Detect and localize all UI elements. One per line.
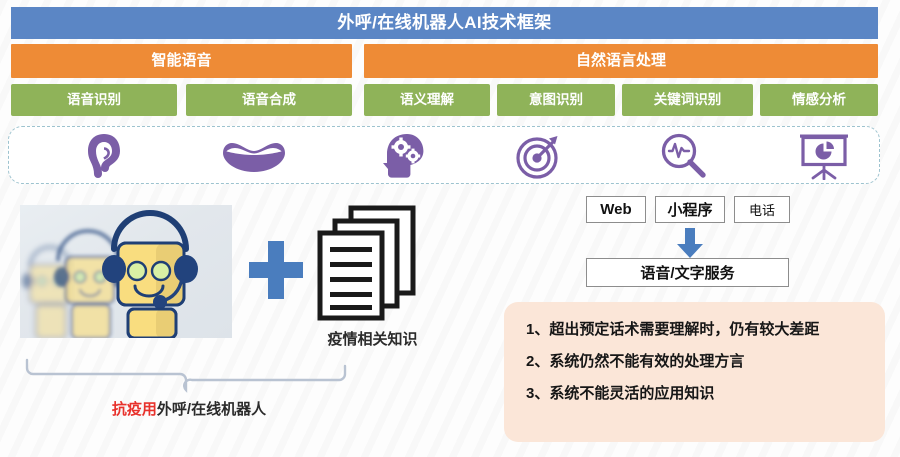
channel-web[interactable]: Web [586, 196, 646, 223]
issue-item-1: 1、超出预定话术需要理解时，仍有较大差距 [526, 322, 869, 337]
framework-leaf-intent: 意图识别 [497, 84, 615, 116]
head-gears-icon [354, 131, 454, 181]
issue-item-2: 2、系统仍然不能有效的处理方言 [526, 354, 869, 369]
framework-leaf-emotion: 情感分析 [760, 84, 878, 116]
framework-group-speech: 智能语音 [11, 44, 352, 78]
lips-icon [199, 131, 309, 181]
robot-caption: 抗疫用外呼/在线机器人 [24, 398, 354, 419]
issue-item-3: 3、系统不能灵活的应用知识 [526, 386, 869, 401]
framework-leaf-keyword: 关键词识别 [622, 84, 753, 116]
presentation-chart-icon [769, 131, 879, 181]
robot-caption-rest: 外呼/在线机器人 [157, 401, 266, 418]
plus-icon [247, 239, 305, 301]
framework-leaf-tts: 语音合成 [186, 84, 352, 116]
grouping-brace [24, 358, 354, 394]
framework-leaf-semantic: 语义理解 [364, 84, 490, 116]
issues-panel: 1、超出预定话术需要理解时，仍有较大差距 2、系统仍然不能有效的处理方言 3、系… [504, 302, 885, 442]
channel-telephone[interactable]: 电话 [734, 196, 790, 223]
service-box: 语音/文字服务 [586, 258, 789, 287]
slide-root: 外呼/在线机器人AI技术框架 智能语音 自然语言处理 语音识别 语音合成 语义理… [0, 0, 900, 457]
framework-title: 外呼/在线机器人AI技术框架 [11, 7, 878, 39]
icon-strip [8, 126, 880, 184]
documents-icon [315, 203, 430, 323]
framework-group-nlp: 自然语言处理 [364, 44, 878, 78]
framework-leaf-asr: 语音识别 [11, 84, 177, 116]
robot-caption-highlight: 抗疫用 [112, 401, 157, 418]
ear-icon [59, 131, 149, 181]
magnifier-waveform-icon [629, 131, 739, 181]
robot-illustration [20, 205, 232, 338]
documents-caption: 疫情相关知识 [300, 328, 445, 349]
channel-miniapp[interactable]: 小程序 [655, 196, 725, 223]
target-icon [489, 131, 589, 181]
down-arrow-icon [674, 228, 706, 258]
